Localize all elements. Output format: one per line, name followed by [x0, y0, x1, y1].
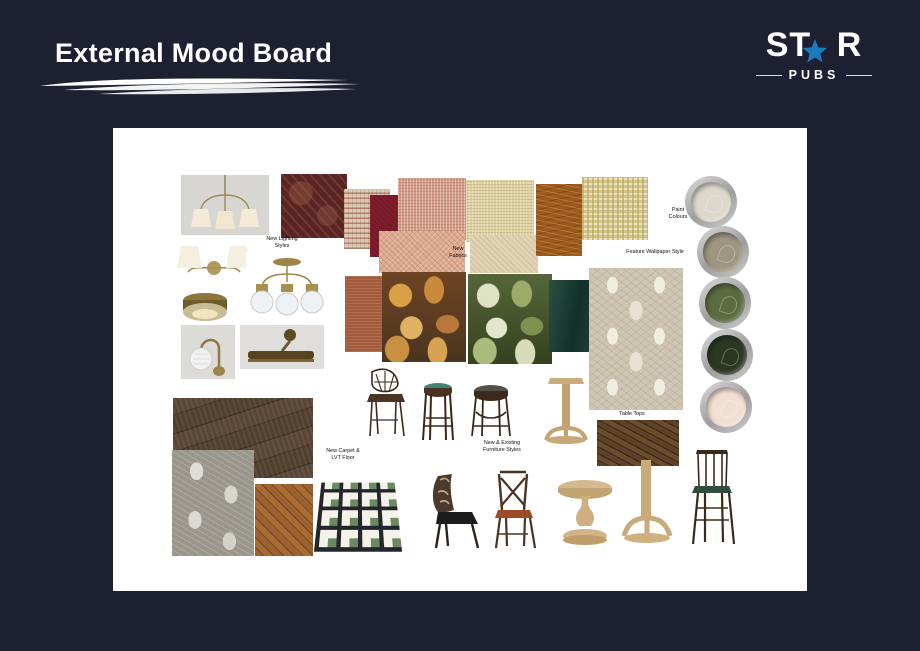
fabric-rust-chenille [536, 184, 582, 256]
furniture-crossback-chair [490, 468, 538, 550]
furniture-green-top-bar-stool [420, 380, 456, 446]
slide-header: External Mood Board STAR PUBS [0, 0, 920, 128]
floor-geometric-tile [314, 483, 402, 552]
brand-rule-left [756, 75, 782, 76]
star-icon [802, 38, 828, 64]
label-new-lighting-styles: New Lighting Styles [251, 236, 313, 249]
label-paint-colours: Paint Colours [660, 207, 696, 220]
furniture-tall-poseur-table [620, 456, 674, 548]
paint-tin-forest-green [701, 329, 753, 381]
fabric-burgundy-damask [281, 174, 347, 238]
paint-tin-blush-pink [700, 381, 752, 433]
brand-subtext-row: PUBS [744, 68, 884, 82]
brush-stroke-underline-icon [38, 74, 368, 96]
furniture-spindle-bar-stool [687, 448, 737, 548]
fabric-rust-plain [345, 276, 387, 352]
fabric-autumn-acanthus [382, 272, 466, 362]
label-new-fabrics: New Fabrics [437, 246, 479, 259]
furniture-floral-leather-chair [428, 470, 484, 550]
page-title: External Mood Board [55, 38, 332, 69]
label-new-existing-furniture-styles: New & Existing Furniture Styles [471, 440, 533, 453]
wallpaper-morris-damask [589, 268, 683, 410]
brand-subtext: PUBS [789, 68, 840, 82]
mood-board-canvas: New Lighting Styles New Fabrics Feature … [113, 128, 807, 591]
brand-wordmark-post: R [837, 26, 863, 64]
furniture-oak-pedestal-table [542, 374, 590, 446]
floor-herringbone-parquet [255, 484, 313, 556]
brand-logo: STAR PUBS [744, 26, 884, 90]
fabric-gold-dot-weave [582, 177, 648, 240]
furniture-bentwood-stool [470, 382, 512, 440]
fabric-green-acanthus [468, 274, 552, 364]
fabric-cream-linen [466, 180, 534, 242]
brand-rule-right [846, 75, 872, 76]
photo-ceiling-pendant-3arm [181, 175, 269, 235]
photo-3-globe-flush-light [246, 252, 328, 328]
label-table-tops: Table Tops [608, 411, 656, 418]
label-new-carpet-lvt-floor: New Carpet & LVT Floor [314, 448, 372, 461]
fabric-oat-weave [470, 235, 538, 273]
label-feature-wallpaper-style: Feature Wallpaper Style [605, 249, 705, 256]
paint-tin-cream [685, 176, 737, 228]
photo-ribbed-glass-sconce [181, 325, 235, 379]
furniture-round-pedestal-table [556, 478, 614, 548]
furniture-wheelback-chair [362, 368, 408, 440]
paint-tin-olive-green [699, 277, 751, 329]
fabric-dark-green-velvet [549, 280, 593, 352]
photo-flush-brass-light [178, 286, 232, 330]
photo-picture-light [240, 325, 324, 369]
carpet-grey-damask [172, 450, 254, 556]
